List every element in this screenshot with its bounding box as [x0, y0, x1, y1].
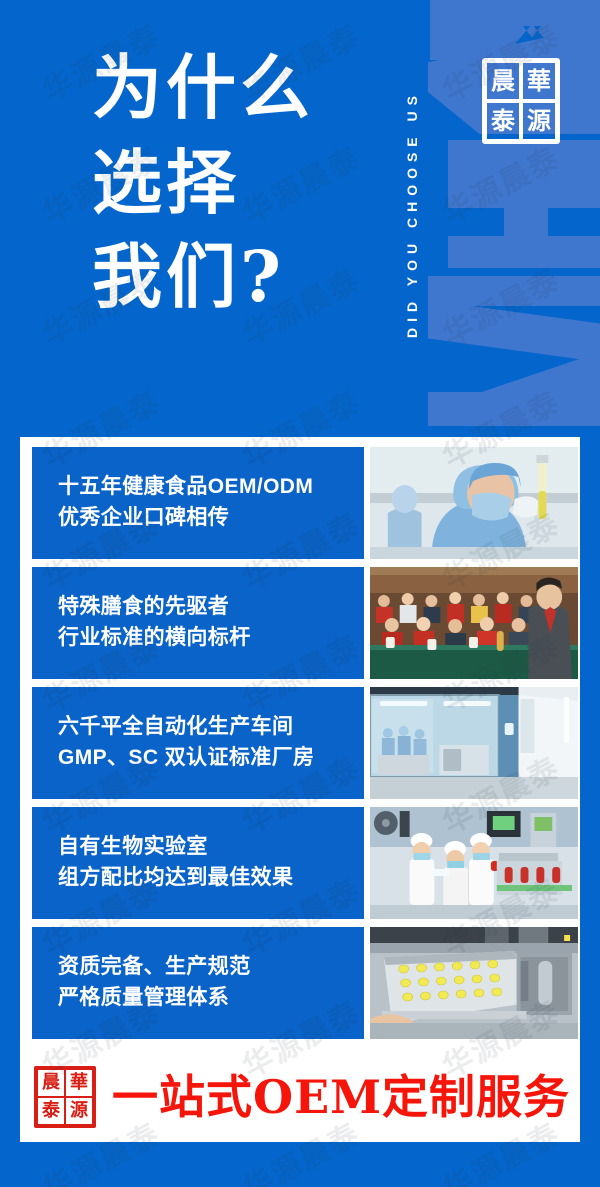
feature-card[interactable]: 资质完备、生产规范严格质量管理体系	[32, 927, 578, 1039]
features-panel: 十五年健康食品OEM/ODM优秀企业口碑相传 特殊膳食的先驱者行业标准的横向标杆	[20, 437, 580, 1142]
feature-card-text: 六千平全自动化生产车间GMP、SC 双认证标准厂房	[32, 687, 364, 799]
lab-technician-pipetting-photo	[370, 447, 578, 559]
feature-card[interactable]: 十五年健康食品OEM/ODM优秀企业口碑相传	[32, 447, 578, 559]
feature-card[interactable]: 特殊膳食的先驱者行业标准的横向标杆	[32, 567, 578, 679]
production-line-workers-photo	[370, 807, 578, 919]
banner-slogan: 一站式OEM定制服务	[112, 1074, 570, 1120]
feature-card[interactable]: 六千平全自动化生产车间GMP、SC 双认证标准厂房	[32, 687, 578, 799]
feature-card-line-2: GMP、SC 双认证标准厂房	[58, 743, 364, 774]
ghost-letter-y-upper	[428, 300, 600, 362]
vertical-english-label: DID YOU CHOOSE US	[399, 24, 425, 404]
feature-card[interactable]: 自有生物实验室组方配比均达到最佳效果	[32, 807, 578, 919]
feature-card-line-2: 严格质量管理体系	[58, 983, 364, 1014]
brand-seal-logo: 晨 華 泰 源	[482, 58, 560, 144]
feature-card-line-1: 六千平全自动化生产车间	[58, 712, 364, 743]
vertical-english-text: DID YOU CHOOSE US	[404, 90, 420, 338]
feature-card-line-1: 自有生物实验室	[58, 832, 364, 863]
geo-band-a	[478, 0, 600, 26]
page-title: 为什么 选择 我们?	[92, 54, 314, 312]
cleanroom-corridor-photo	[370, 687, 578, 799]
ghost-letter-h-stem	[504, 184, 548, 236]
seal-char-1: 晨	[487, 63, 521, 101]
title-line-3: 我们?	[92, 243, 314, 312]
feature-card-line-2: 行业标准的横向标杆	[58, 623, 364, 654]
bottom-banner: 晨 華 泰 源 一站式OEM定制服务	[20, 1052, 580, 1142]
blister-packaging-machine-photo	[370, 927, 578, 1039]
seal-char-4: 源	[521, 101, 555, 139]
seal-char-3: 泰	[487, 101, 521, 139]
feature-card-line-2: 优秀企业口碑相传	[58, 503, 364, 534]
banner-seal-logo: 晨 華 泰 源	[34, 1066, 96, 1128]
banner-seal-char-4: 源	[65, 1097, 92, 1124]
title-line-2: 选择	[92, 149, 314, 218]
ghost-letter-y-lower	[470, 352, 600, 396]
feature-card-line-1: 十五年健康食品OEM/ODM	[58, 472, 364, 503]
feature-card-text: 资质完备、生产规范严格质量管理体系	[32, 927, 364, 1039]
banner-seal-char-1: 晨	[38, 1070, 65, 1097]
banner-seal-char-3: 泰	[38, 1097, 65, 1124]
feature-card-line-1: 特殊膳食的先驱者	[58, 592, 364, 623]
conference-audience-photo	[370, 567, 578, 679]
geo-band-b	[448, 140, 600, 184]
feature-card-text: 特殊膳食的先驱者行业标准的横向标杆	[32, 567, 364, 679]
ghost-letter-h-bottom	[448, 236, 600, 268]
seal-char-2: 華	[521, 63, 555, 101]
features-list: 十五年健康食品OEM/ODM优秀企业口碑相传 特殊膳食的先驱者行业标准的横向标杆	[20, 447, 580, 1039]
banner-seal-char-2: 華	[65, 1070, 92, 1097]
geo-band-d	[428, 392, 600, 426]
geo-band-c	[428, 276, 600, 306]
feature-card-line-1: 资质完备、生产规范	[58, 952, 364, 983]
feature-card-text: 十五年健康食品OEM/ODM优秀企业口碑相传	[32, 447, 364, 559]
brand-seal-grid: 晨 華 泰 源	[482, 58, 560, 144]
title-line-1: 为什么	[92, 54, 314, 123]
banner-seal-grid: 晨 華 泰 源	[34, 1066, 96, 1128]
feature-card-line-2: 组方配比均达到最佳效果	[58, 863, 364, 894]
feature-card-text: 自有生物实验室组方配比均达到最佳效果	[32, 807, 364, 919]
poster-root: 为什么 选择 我们? DID YOU CHOOSE US 晨 華 泰 源 十五年…	[0, 0, 600, 1187]
